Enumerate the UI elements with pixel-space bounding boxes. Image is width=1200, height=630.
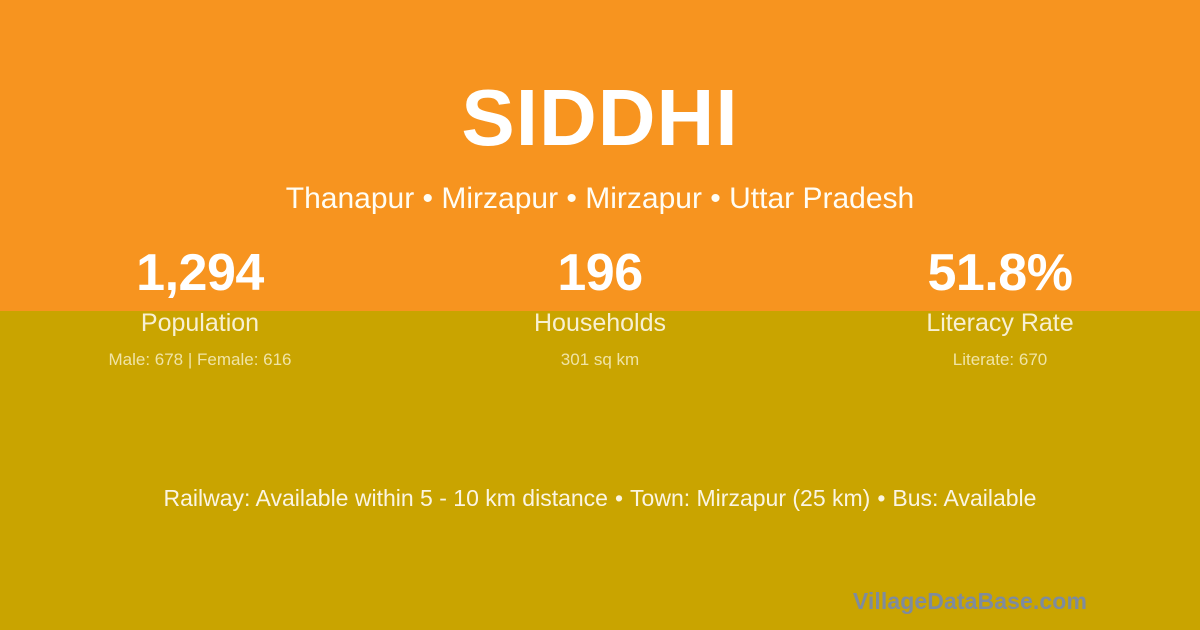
stat-label: Population — [0, 307, 400, 340]
stat-households: 196 Households 301 sq km — [400, 243, 800, 371]
amenities-info-line: Railway: Available within 5 - 10 km dist… — [0, 484, 1200, 514]
stat-value: 51.8% — [800, 243, 1200, 304]
info-separator-icon: • — [870, 485, 892, 511]
town-info: Town: Mirzapur (25 km) — [630, 485, 870, 511]
railway-info: Railway: Available within 5 - 10 km dist… — [164, 485, 608, 511]
bus-info: Bus: Available — [892, 485, 1036, 511]
stat-population: 1,294 Population Male: 678 | Female: 616 — [0, 243, 400, 371]
village-breadcrumb: Thanapur • Mirzapur • Mirzapur • Uttar P… — [0, 181, 1200, 217]
stat-sublabel: Male: 678 | Female: 616 — [0, 349, 400, 371]
stats-row: 1,294 Population Male: 678 | Female: 616… — [0, 243, 1200, 371]
stat-sublabel: Literate: 670 — [800, 349, 1200, 371]
stat-literacy-rate: 51.8% Literacy Rate Literate: 670 — [800, 243, 1200, 371]
stat-value: 196 — [400, 243, 800, 304]
card-content: SIDDHI Thanapur • Mirzapur • Mirzapur • … — [0, 0, 1200, 630]
village-title: SIDDHI — [0, 78, 1200, 158]
site-watermark: VillageDataBase.com — [853, 588, 1087, 616]
stat-value: 1,294 — [0, 243, 400, 304]
stat-label: Households — [400, 307, 800, 340]
village-info-card: SIDDHI Thanapur • Mirzapur • Mirzapur • … — [0, 0, 1200, 630]
stat-sublabel: 301 sq km — [400, 349, 800, 371]
stat-label: Literacy Rate — [800, 307, 1200, 340]
info-separator-icon: • — [608, 485, 630, 511]
